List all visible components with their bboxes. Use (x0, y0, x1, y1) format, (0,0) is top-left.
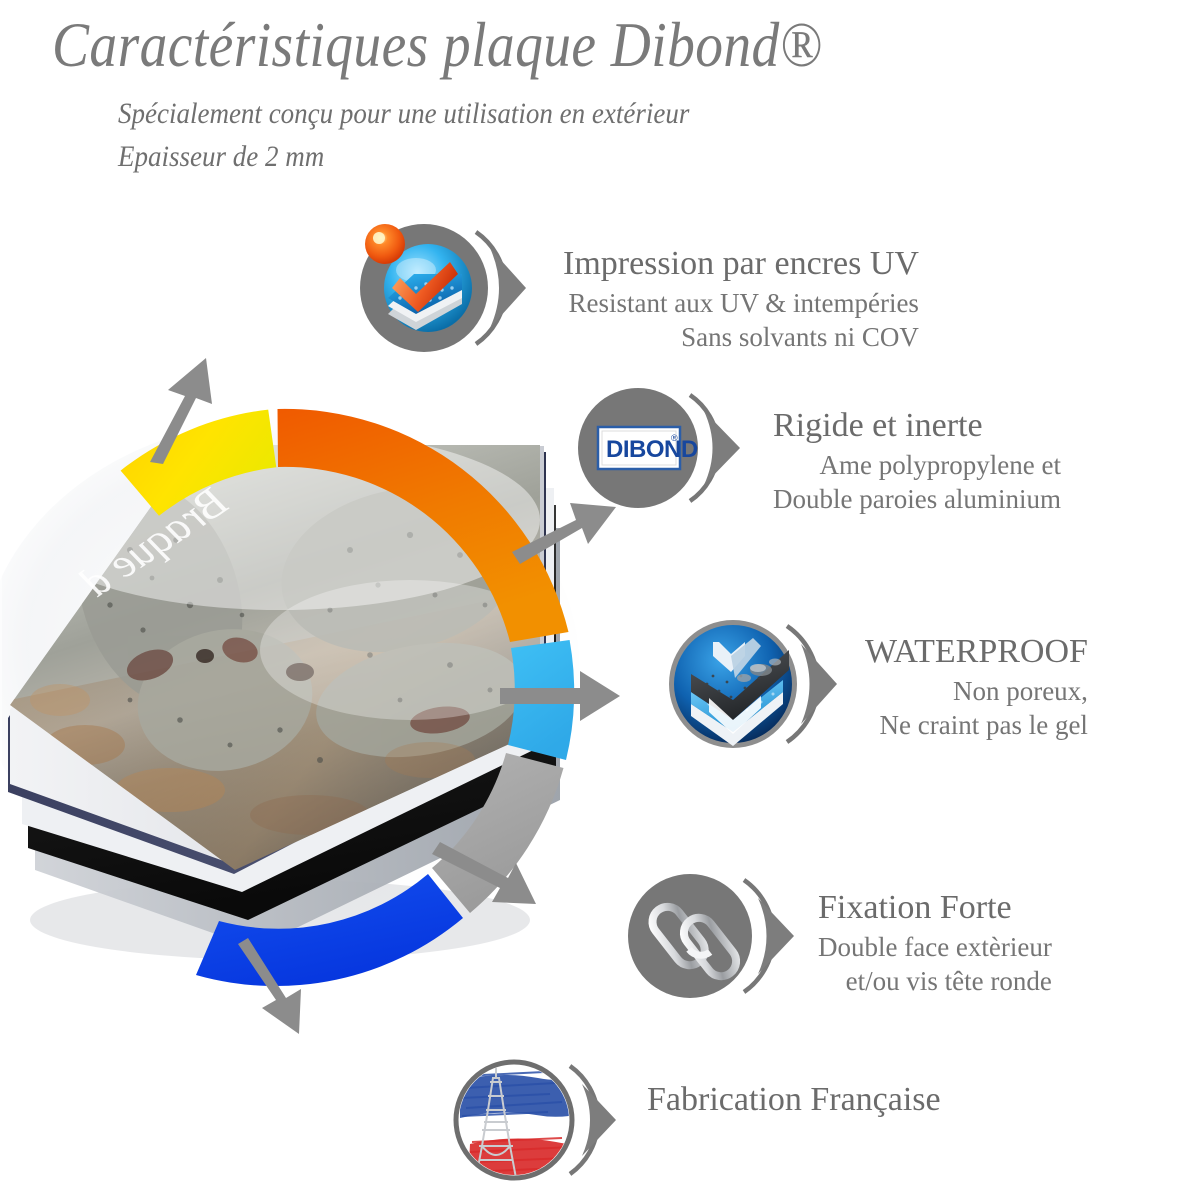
feature-sub-2: et/ou vis tête ronde (818, 964, 1052, 999)
feature-text-rigide: Rigide et inerte Ame polypropylene et Do… (773, 408, 1061, 517)
feature-subtext: Double face extèrieur et/ou vis tête ron… (818, 930, 1052, 999)
feature-sub-2: Double paroies aluminium (773, 482, 1061, 517)
feature-text-waterproof: WATERPROOF Non poreux, Ne craint pas le … (865, 634, 1088, 743)
dibond-logo-icon: DIBOND ® (578, 383, 763, 518)
feature-heading: Fixation Forte (818, 890, 1052, 926)
waterproof-layers-icon (665, 612, 850, 767)
wheel-segment-yellow (121, 410, 277, 516)
wheel-segment-gray (432, 753, 564, 913)
dibond-logo-mark: ® (671, 433, 678, 443)
feature-text-fixation: Fixation Forte Double face extèrieur et/… (818, 890, 1052, 999)
feature-sub-1: Non poreux, (865, 674, 1088, 709)
feature-subtext: Ame polypropylene et Double paroies alum… (773, 448, 1061, 517)
feature-text-fabrication: Fabrication Française (647, 1082, 941, 1118)
feature-heading: Impression par encres UV (563, 246, 919, 282)
feature-text-impression-uv: Impression par encres UV Resistant aux U… (563, 246, 919, 355)
feature-subtext: Resistant aux UV & intempéries Sans solv… (563, 286, 919, 355)
infographic-canvas: Caractéristiques plaque Dibond® Spéciale… (0, 0, 1199, 1199)
feature-wheel (0, 330, 640, 1090)
feature-heading: Fabrication Française (647, 1082, 941, 1118)
french-flag-eiffel-icon (452, 1052, 637, 1197)
uv-sun (365, 224, 405, 264)
wheel-segment-orange (278, 409, 569, 642)
page-subtitle-1: Spécialement conçu pour une utilisation … (118, 97, 689, 131)
feature-heading: Rigide et inerte (773, 408, 1061, 444)
wheel-segment-blue (196, 874, 463, 986)
icon-disc (628, 874, 752, 998)
feature-sub-1: Double face extèrieur (818, 930, 1052, 965)
feature-sub-2: Ne craint pas le gel (865, 708, 1088, 743)
feature-sub-2: Sans solvants ni COV (563, 320, 919, 355)
feature-sub-1: Ame polypropylene et (773, 448, 1061, 483)
feature-sub-1: Resistant aux UV & intempéries (563, 286, 919, 321)
header: Caractéristiques plaque Dibond® Spéciale… (0, 0, 1199, 190)
dibond-logo-text: DIBOND (606, 436, 698, 463)
flag-blue-stroke (460, 1072, 580, 1118)
page-title: Caractéristiques plaque Dibond® (52, 12, 822, 78)
feature-heading: WATERPROOF (865, 634, 1088, 670)
uv-ink-print-icon (358, 218, 548, 363)
chain-link-icon (628, 868, 813, 1013)
feature-subtext: Non poreux, Ne craint pas le gel (865, 674, 1088, 743)
page-subtitle-2: Epaisseur de 2 mm (118, 140, 324, 174)
